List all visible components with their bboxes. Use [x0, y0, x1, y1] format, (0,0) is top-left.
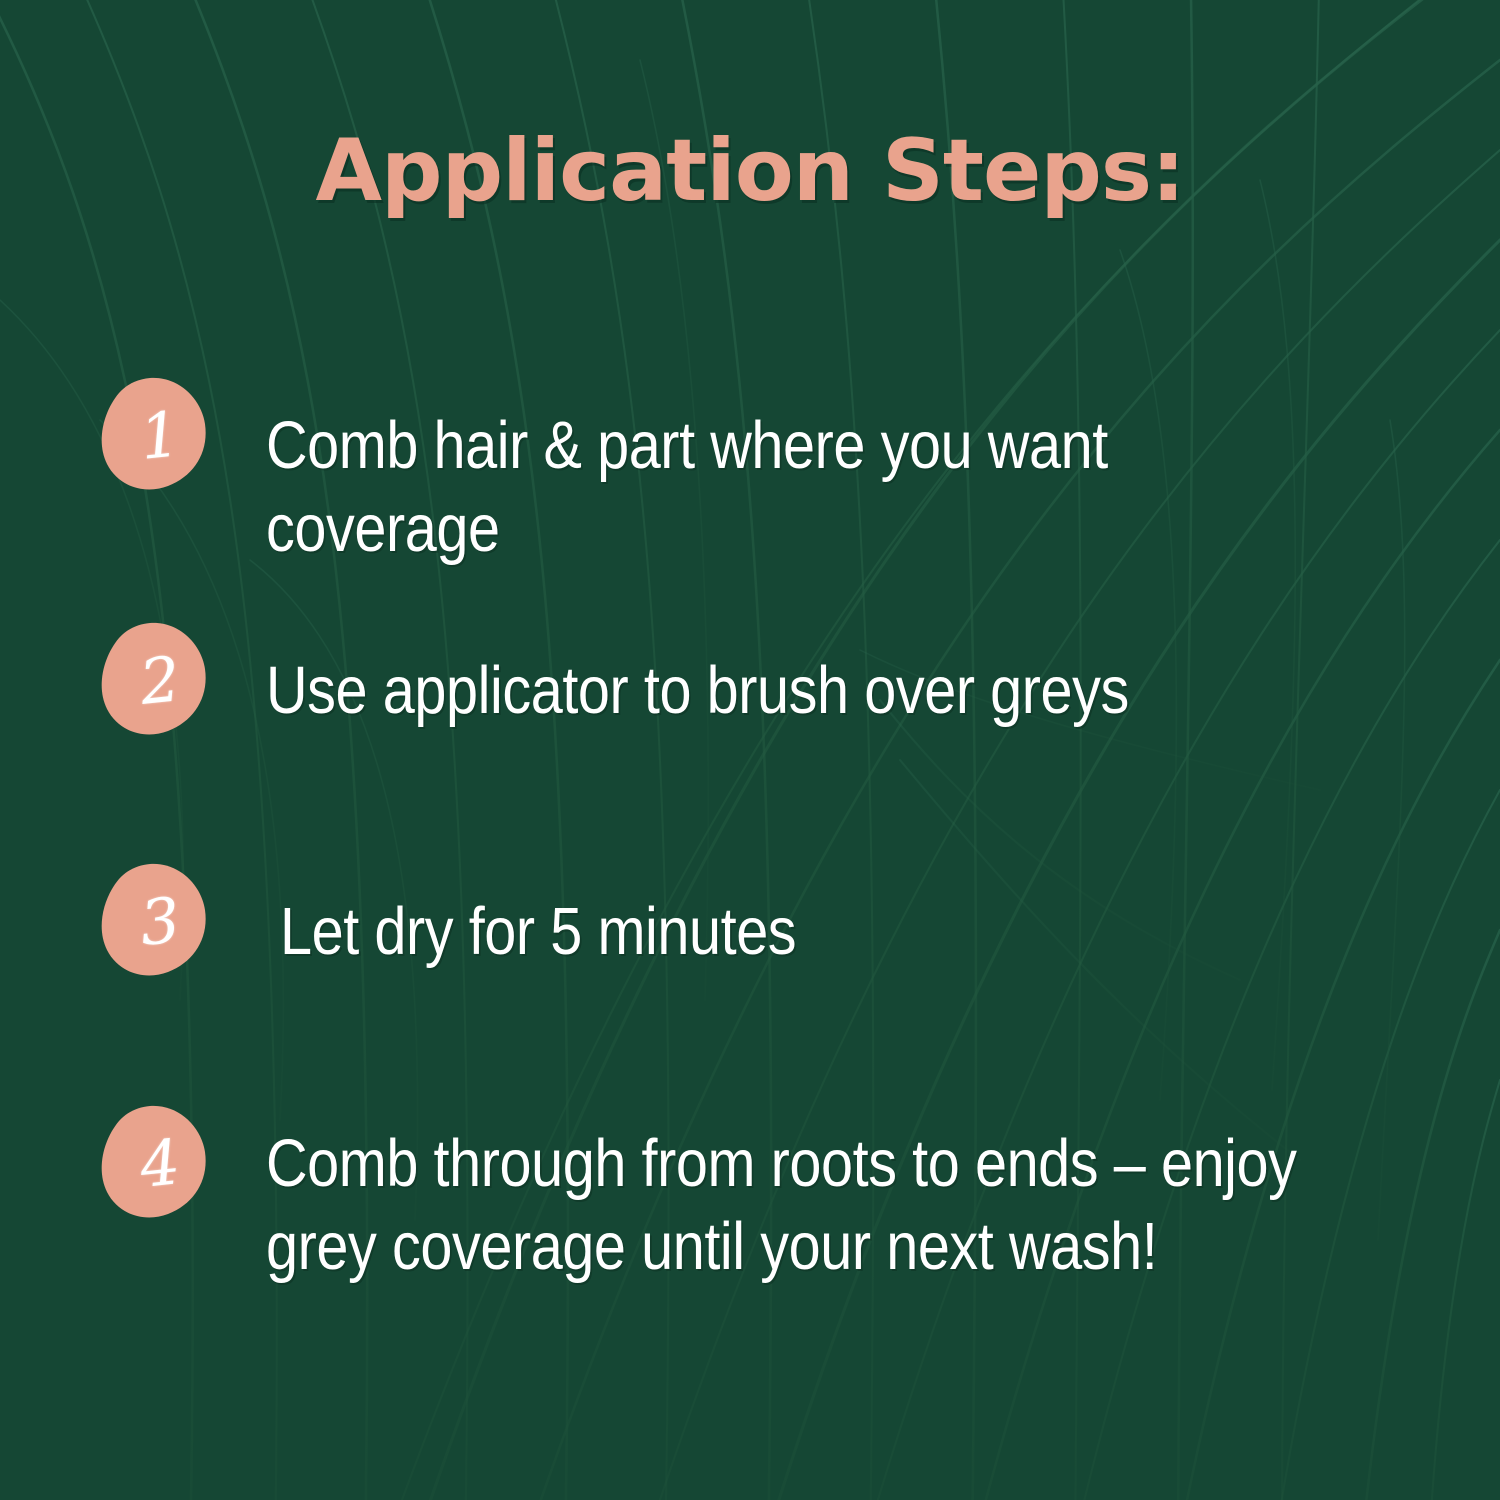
step-number: 2 [100, 618, 219, 743]
list-item: 3 Let dry for 5 minutes [100, 862, 880, 976]
step-number: 4 [100, 1101, 219, 1226]
step-number: 3 [100, 859, 219, 984]
steps-list: 1 Comb hair & part where you want covera… [0, 0, 1500, 1500]
step-number-badge: 4 [100, 1104, 208, 1218]
step-text: Comb hair & part where you want coverage [266, 404, 1327, 570]
step-number: 1 [100, 373, 219, 498]
application-steps-panel: Application Steps: 1 Comb hair & part wh… [0, 0, 1500, 1500]
step-number-badge: 1 [100, 376, 208, 490]
step-number-badge: 3 [100, 862, 208, 976]
step-text: Let dry for 5 minutes [280, 890, 796, 973]
list-item: 4 Comb through from roots to ends – enjo… [100, 1104, 1464, 1288]
list-item: 1 Comb hair & part where you want covera… [100, 376, 1500, 570]
step-text: Comb through from roots to ends – enjoy … [266, 1122, 1297, 1288]
step-text: Use applicator to brush over greys [266, 649, 1129, 732]
list-item: 2 Use applicator to brush over greys [100, 621, 1269, 735]
step-number-badge: 2 [100, 621, 208, 735]
